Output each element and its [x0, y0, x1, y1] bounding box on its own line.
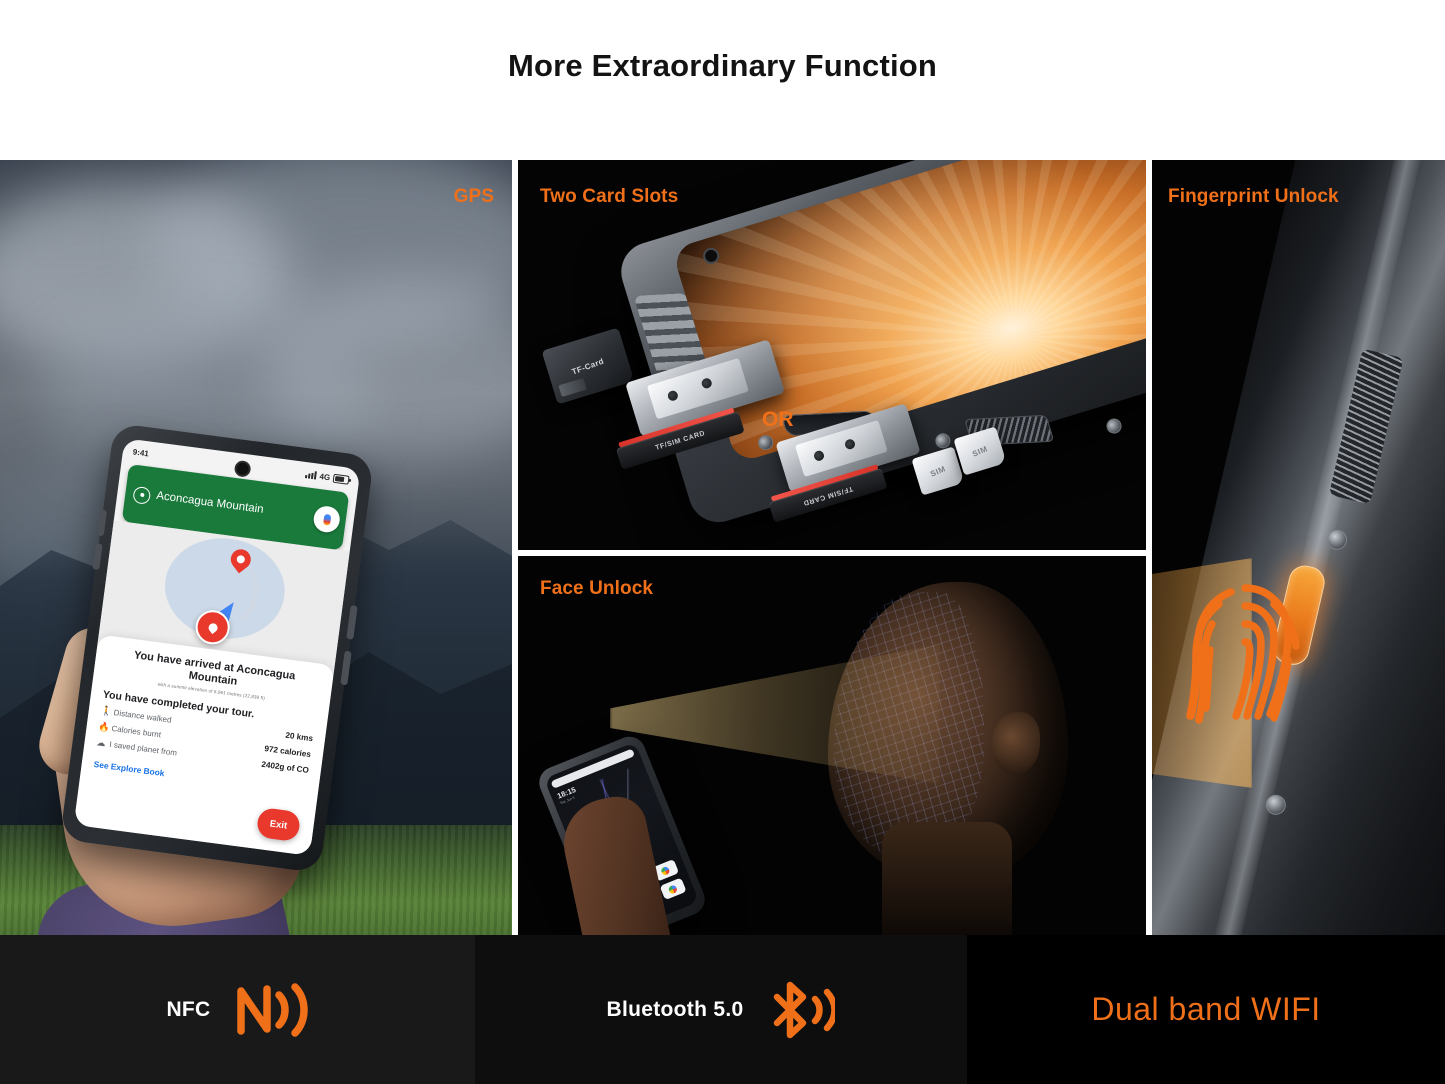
page-title: More Extraordinary Function [508, 48, 937, 84]
arrival-card: You have arrived at Aconcagua Mountain w… [74, 634, 335, 855]
phone-side-edge [1152, 160, 1445, 935]
cloud-icon: ☁ [96, 739, 110, 750]
panel-label-fingerprint-unlock: Fingerprint Unlock [1168, 186, 1339, 208]
see-explore-book-link[interactable]: See Explore Book [93, 759, 165, 778]
panel-label-face-unlock: Face Unlock [540, 578, 653, 600]
gps-phone: 9:41 4G Aconcagua Mountain [60, 423, 375, 874]
nfc-label: NFC [166, 998, 210, 1022]
tf-card-label: TF-Card [571, 356, 606, 376]
flame-icon: 🔥 [98, 723, 112, 734]
bluetooth-icon [765, 979, 835, 1041]
nfc-icon [233, 981, 309, 1039]
feature-panels: 9:41 4G Aconcagua Mountain [0, 160, 1445, 935]
tf-card: TF-Card [542, 328, 635, 405]
signal-bars-icon [305, 470, 317, 479]
feature-bottom-bar: NFC Bluetooth 5.0 Dual band WIFI [0, 935, 1445, 1084]
network-type: 4G [319, 471, 331, 481]
fingerprint-icon [1170, 564, 1320, 750]
battery-icon [333, 473, 350, 484]
neck-and-shoulder [882, 822, 1012, 935]
walking-icon: 🚶 [100, 707, 114, 718]
stat-value: 20 kms [285, 731, 314, 744]
search-destination: Aconcagua Mountain [155, 490, 308, 523]
microphone-icon[interactable] [312, 505, 341, 534]
panel-label-gps: GPS [454, 186, 494, 208]
gps-phone-screen: 9:41 4G Aconcagua Mountain [74, 438, 361, 856]
face-unlock-phone: 18:15 Sat, Jun 5 [534, 732, 709, 935]
cloud-texture [260, 280, 512, 460]
panel-face-unlock: 18:15 Sat, Jun 5 Face Unlock [518, 556, 1146, 935]
wifi-label: Dual band WIFI [1091, 991, 1320, 1028]
feature-bluetooth: Bluetooth 5.0 [475, 935, 967, 1084]
sim-chip-label: SIM [929, 464, 947, 478]
page-header: More Extraordinary Function [0, 0, 1445, 160]
status-time: 9:41 [132, 447, 149, 458]
screw-icon [1105, 417, 1124, 436]
bluetooth-label: Bluetooth 5.0 [607, 998, 744, 1022]
panel-fingerprint-unlock: Fingerprint Unlock [1152, 160, 1445, 935]
status-indicators: 4G [305, 470, 349, 485]
feature-nfc: NFC [0, 935, 475, 1084]
cloud-texture [0, 180, 290, 370]
destination-pin-icon [229, 548, 252, 576]
phone-body [1152, 160, 1445, 935]
feature-dual-band-wifi: Dual band WIFI [967, 935, 1445, 1084]
face-scan-beam [610, 644, 940, 784]
panel-gps: 9:41 4G Aconcagua Mountain [0, 160, 512, 935]
stat-value: 2402g of CO [261, 760, 310, 775]
app-icon[interactable] [659, 878, 686, 901]
panel-label-two-card-slots: Two Card Slots [540, 186, 678, 208]
location-pin-icon [132, 485, 151, 504]
or-separator: OR [762, 408, 794, 432]
stat-value: 972 calories [264, 744, 312, 759]
panel-two-card-slots: TF-Card TF/SIM CARD OR TF/SIM CARD SIM [518, 160, 1146, 550]
sim-chip-label: SIM [971, 444, 989, 458]
exit-button[interactable]: Exit [256, 807, 302, 842]
ear [992, 712, 1040, 774]
